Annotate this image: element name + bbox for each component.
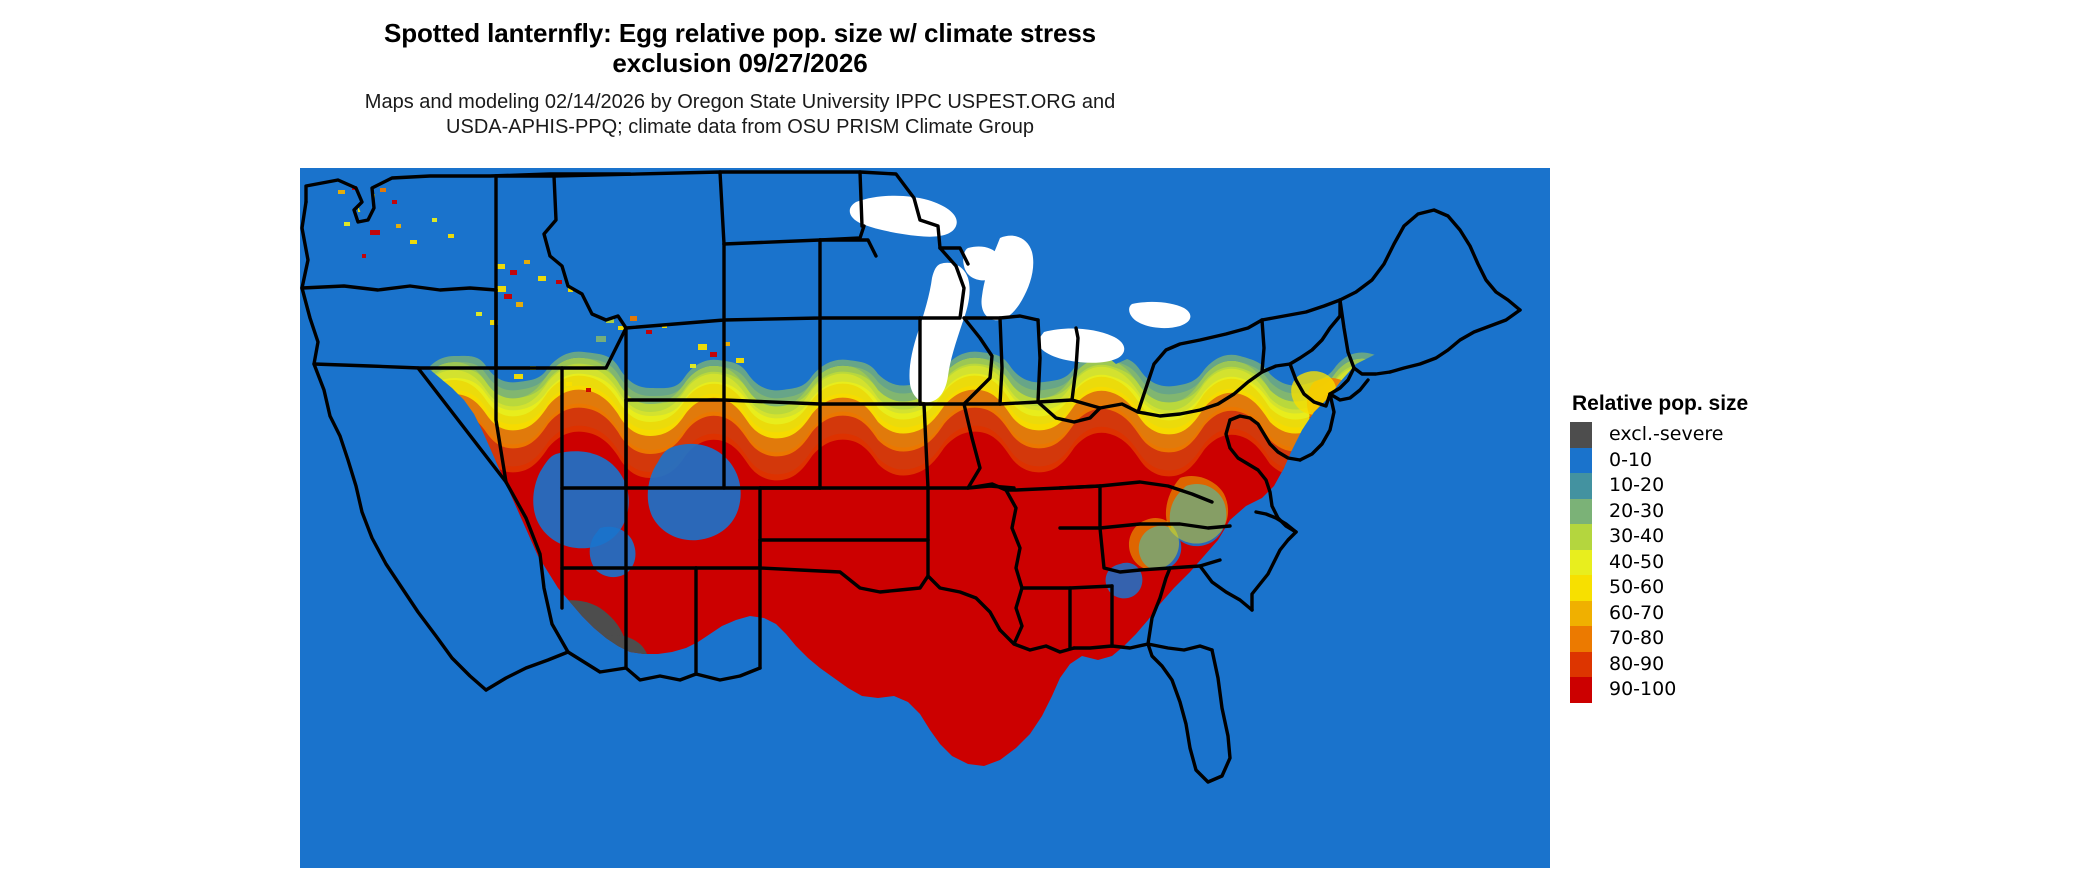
legend-item-label: 50-60: [1609, 575, 1664, 601]
legend-item: 10-20: [1570, 473, 1900, 499]
legend-item: 0-10: [1570, 448, 1900, 474]
legend-item-label: 30-40: [1609, 524, 1664, 550]
legend-item: 40-50: [1570, 550, 1900, 576]
legend-color-swatch: [1570, 677, 1592, 703]
legend-item-label: 0-10: [1609, 448, 1652, 474]
legend-color-swatch: [1570, 626, 1592, 652]
legend-color-swatch: [1570, 499, 1592, 525]
legend-item-label: 80-90: [1609, 652, 1664, 678]
choropleth-map: [300, 168, 1550, 868]
legend-color-swatch: [1570, 524, 1592, 550]
legend-item: 20-30: [1570, 499, 1900, 525]
legend-item: 50-60: [1570, 575, 1900, 601]
legend-color-swatch: [1570, 652, 1592, 678]
legend-item-label: 60-70: [1609, 601, 1664, 627]
legend-color-swatch: [1570, 575, 1592, 601]
legend-color-swatch: [1570, 422, 1592, 448]
legend-item-label: 20-30: [1609, 499, 1664, 525]
legend-color-swatch: [1570, 448, 1592, 474]
legend-item: 60-70: [1570, 601, 1900, 627]
legend-item: 70-80: [1570, 626, 1900, 652]
legend-title: Relative pop. size: [1572, 392, 1900, 416]
map-figure: Spotted lanternfly: Egg relative pop. si…: [0, 0, 2100, 892]
legend: Relative pop. size excl.-severe0-1010-20…: [1570, 392, 1900, 703]
legend-item-label: excl.-severe: [1609, 422, 1724, 448]
legend-color-swatch: [1570, 550, 1592, 576]
legend-rows: excl.-severe0-1010-2020-3030-4040-5050-6…: [1570, 422, 1900, 703]
page-subtitle: Maps and modeling 02/14/2026 by Oregon S…: [0, 90, 1480, 140]
legend-item: excl.-severe: [1570, 422, 1900, 448]
legend-item-label: 40-50: [1609, 550, 1664, 576]
legend-color-swatch: [1570, 473, 1592, 499]
legend-item: 30-40: [1570, 524, 1900, 550]
legend-color-swatch: [1570, 601, 1592, 627]
legend-item: 90-100: [1570, 677, 1900, 703]
legend-item-label: 90-100: [1609, 677, 1676, 703]
legend-item-label: 70-80: [1609, 626, 1664, 652]
page-title: Spotted lanternfly: Egg relative pop. si…: [0, 18, 1480, 78]
legend-item: 80-90: [1570, 652, 1900, 678]
legend-item-label: 10-20: [1609, 473, 1664, 499]
